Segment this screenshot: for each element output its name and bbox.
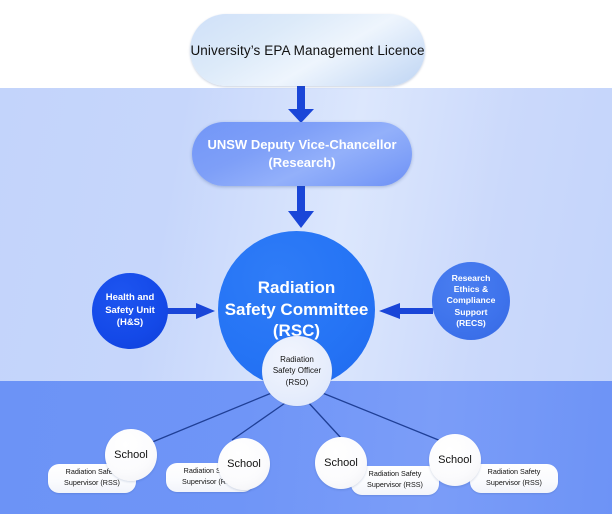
node-school-3-label: School	[324, 457, 358, 469]
node-school-4[interactable]: School	[429, 434, 481, 486]
node-rsc-label-line2: Safety Committee	[225, 299, 369, 321]
connector-rso-to-school-4	[320, 392, 441, 441]
node-rsc-text: Radiation Safety Committee (RSC)	[225, 277, 369, 342]
node-recs-label-line1: Research	[447, 273, 496, 284]
node-radiation-safety-officer[interactable]: Radiation Safety Officer (RSO)	[262, 336, 332, 406]
node-recs-label-line4: Support	[447, 307, 496, 318]
connector-dvc-to-rsc	[288, 186, 314, 228]
node-hs-label-line2: Safety Unit	[105, 305, 155, 318]
node-school-2-label: School	[227, 458, 261, 470]
node-rss-4-line2: Supervisor (RSS)	[472, 478, 556, 489]
node-rss-3-line2: Supervisor (RSS)	[353, 480, 437, 491]
node-school-3[interactable]: School	[315, 437, 367, 489]
connector-epa-to-dvc	[288, 85, 314, 123]
connector-recs-to-rsc	[379, 303, 433, 319]
connector-rso-to-school-1	[150, 392, 274, 443]
connector-hs-to-rsc	[166, 303, 215, 319]
node-school-1-label: School	[114, 449, 148, 461]
node-recs-label-line3: Compliance	[447, 295, 496, 306]
node-school-2[interactable]: School	[218, 438, 270, 490]
diagram-canvas: University’s EPA Management Licence UNSW…	[0, 0, 612, 514]
node-dvc-label-line2: (Research)	[207, 154, 396, 172]
node-rso-text: Radiation Safety Officer (RSO)	[273, 354, 321, 388]
node-hs-label-line1: Health and	[105, 292, 155, 305]
node-school-1[interactable]: School	[105, 429, 157, 481]
node-rso-label-line1: Radiation	[273, 354, 321, 365]
node-rss-4[interactable]: Radiation Safety Supervisor (RSS)	[470, 464, 558, 493]
node-rss-4-line1: Radiation Safety	[472, 467, 556, 478]
node-recs-label-line5: (RECS)	[447, 318, 496, 329]
node-hs-text: Health and Safety Unit (H&S)	[105, 292, 155, 330]
node-recs-text: Research Ethics & Compliance Support (RE…	[447, 273, 496, 329]
node-rso-label-line3: (RSO)	[273, 377, 321, 388]
node-epa-management-licence[interactable]: University’s EPA Management Licence	[190, 14, 425, 86]
node-dvc-label-line1: UNSW Deputy Vice-Chancellor	[207, 136, 396, 154]
node-school-4-label: School	[438, 454, 472, 466]
node-rso-label-line2: Safety Officer	[273, 365, 321, 376]
node-recs-label-line2: Ethics &	[447, 284, 496, 295]
connector-rso-to-school-3	[307, 401, 341, 438]
connector-rso-to-school-2	[232, 401, 288, 440]
node-rsc-label-line1: Radiation	[225, 277, 369, 299]
node-dvc-text: UNSW Deputy Vice-Chancellor (Research)	[207, 136, 396, 171]
node-health-and-safety-unit[interactable]: Health and Safety Unit (H&S)	[92, 273, 168, 349]
node-dvc-research[interactable]: UNSW Deputy Vice-Chancellor (Research)	[192, 122, 412, 186]
node-hs-label-line3: (H&S)	[105, 317, 155, 330]
node-epa-label: University’s EPA Management Licence	[190, 43, 424, 58]
node-research-ethics-compliance-support[interactable]: Research Ethics & Compliance Support (RE…	[432, 262, 510, 340]
